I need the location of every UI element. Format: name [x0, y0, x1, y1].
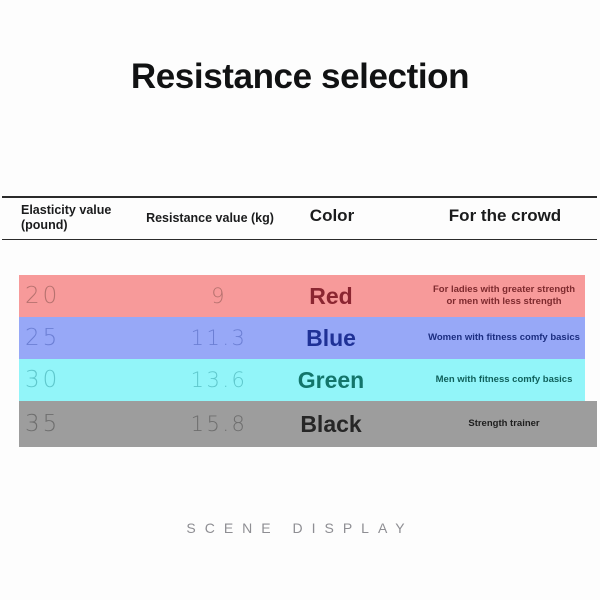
cell-elasticity-value: 30 [25, 359, 145, 401]
resistance-selection-infographic: Resistance selection Elasticity value (p… [0, 0, 600, 600]
cell-crowd-line1: Strength trainer [468, 418, 539, 431]
column-header-resistance: Resistance value (kg) [130, 211, 290, 225]
column-header-crowd: For the crowd [415, 206, 595, 226]
cell-color-name: Black [271, 401, 391, 447]
cell-crowd-line1: Women with fitness comfy basics [428, 332, 580, 345]
resistance-band-table: 209RedFor ladies with greater strengthor… [19, 275, 585, 447]
table-row: 2511.3BlueWomen with fitness comfy basic… [19, 317, 585, 359]
cell-crowd-description: Men with fitness comfy basics [414, 359, 594, 401]
cell-crowd-description: Strength trainer [414, 401, 594, 447]
cell-elasticity-value: 20 [25, 275, 145, 317]
page-title: Resistance selection [0, 57, 600, 97]
table-row: 3515.8BlackStrength trainer [19, 401, 597, 447]
table-row: 3013.6GreenMen with fitness comfy basics [19, 359, 585, 401]
column-header-color: Color [272, 206, 392, 226]
cell-elasticity-value: 35 [25, 401, 145, 447]
cell-crowd-line2: or men with less strength [433, 296, 575, 309]
table-header-top-rule [2, 196, 597, 198]
cell-crowd-line1: Men with fitness comfy basics [436, 374, 573, 387]
cell-color-name: Green [271, 359, 391, 401]
cell-elasticity-value: 25 [25, 317, 145, 359]
cell-color-name: Blue [271, 317, 391, 359]
table-row: 209RedFor ladies with greater strengthor… [19, 275, 585, 317]
cell-crowd-description: For ladies with greater strengthor men w… [414, 275, 594, 317]
scene-display-label: SCENE DISPLAY [0, 520, 600, 536]
cell-crowd-line1: For ladies with greater strength [433, 284, 575, 297]
cell-color-name: Red [271, 275, 391, 317]
cell-crowd-description: Women with fitness comfy basics [414, 317, 594, 359]
table-header-bottom-rule [2, 239, 597, 240]
